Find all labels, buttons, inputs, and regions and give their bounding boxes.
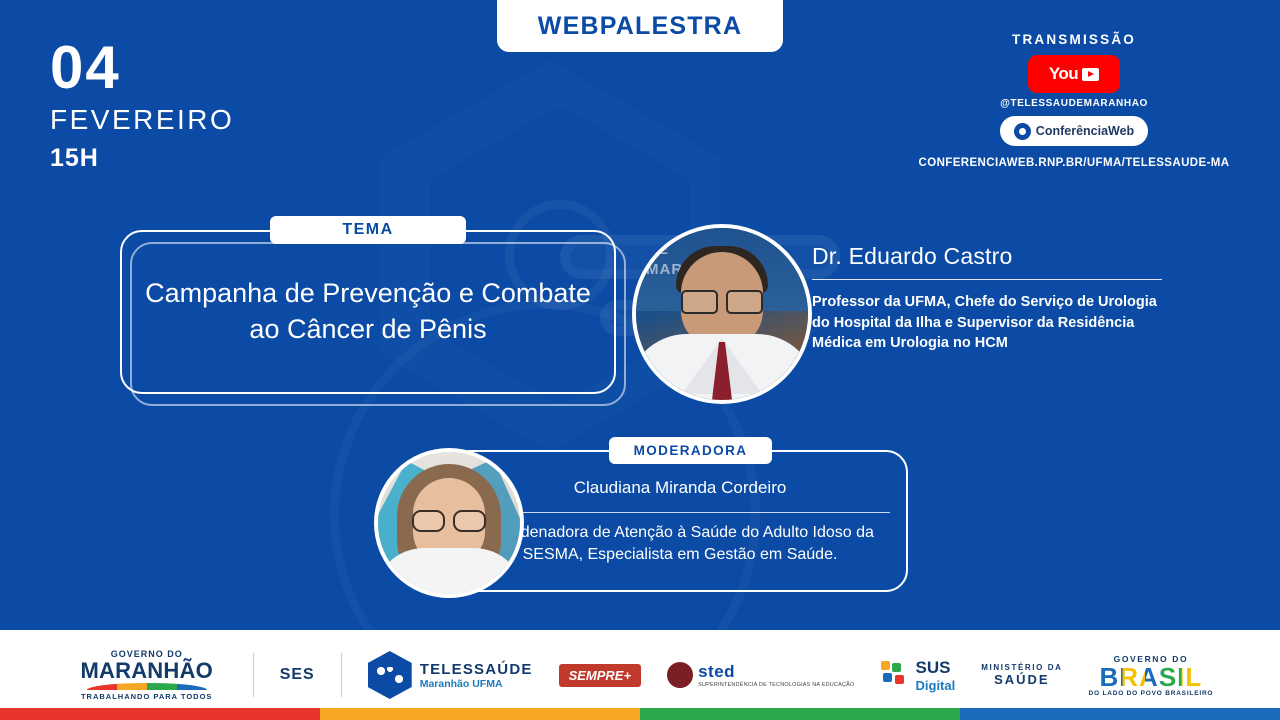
theme-tab: TEMA bbox=[270, 216, 466, 244]
moderator-avatar bbox=[374, 448, 524, 598]
brasil-line2: BRASIL bbox=[1100, 664, 1203, 690]
telessaude-line2: Maranhão UFMA bbox=[420, 678, 533, 690]
logo-sted: sted SUPERINTENDÊNCIA DE TECNOLOGIAS NA … bbox=[698, 662, 854, 688]
sted-line1: sted bbox=[698, 662, 854, 682]
theme-tab-label: TEMA bbox=[342, 221, 393, 239]
sus-line2: Digital bbox=[916, 678, 956, 693]
ufma-seal-icon bbox=[667, 662, 693, 688]
youtube-play-icon bbox=[1082, 68, 1099, 81]
footer-divider-2 bbox=[341, 653, 342, 697]
logo-governo-do-maranhao: GOVERNO DO MARANHÃO TRABALHANDO PARA TOD… bbox=[67, 649, 227, 701]
event-day: 04 bbox=[50, 38, 234, 98]
youtube-handle: @TELESSAUDEMARANHAO bbox=[914, 98, 1234, 109]
speaker-info: Dr. Eduardo Castro Professor da UFMA, Ch… bbox=[812, 243, 1162, 354]
telessaude-hex-icon bbox=[368, 651, 412, 699]
webpalestra-label: WEBPALESTRA bbox=[538, 12, 742, 41]
brasil-line3: DO LADO DO POVO BRASILEIRO bbox=[1088, 690, 1213, 697]
logo-ufma-seal: sted SUPERINTENDÊNCIA DE TECNOLOGIAS NA … bbox=[667, 662, 854, 688]
theme-title: Campanha de Prevenção e Combate ao Cânce… bbox=[122, 276, 614, 347]
logo-sus-digital: SUS Digital bbox=[881, 658, 956, 693]
footer-logo-bar: GOVERNO DO MARANHÃO TRABALHANDO PARA TOD… bbox=[0, 630, 1280, 720]
logo-ministerio-da-saude: MINISTÉRIO DA SAÚDE bbox=[981, 663, 1062, 687]
conferenciaweb-icon bbox=[1014, 123, 1031, 140]
sempre-mais-label: SEMPRE+ bbox=[559, 664, 642, 687]
maranhao-line3: TRABALHANDO PARA TODOS bbox=[81, 692, 212, 701]
moderator-glasses-icon bbox=[412, 510, 486, 528]
telessaude-line1: TELESSAÚDE bbox=[420, 661, 533, 678]
maranhao-line2: MARANHÃO bbox=[81, 659, 213, 682]
event-date-block: 04 FEVEREIRO 15H bbox=[50, 38, 234, 173]
webinar-poster: WEBPALESTRA 04 FEVEREIRO 15H TRANSMISSÃO… bbox=[0, 0, 1280, 720]
moderator-shirt bbox=[374, 548, 524, 598]
footer-color-strip bbox=[0, 708, 1280, 720]
speaker-role: Professor da UFMA, Chefe do Serviço de U… bbox=[812, 292, 1162, 354]
broadcast-label: TRANSMISSÃO bbox=[914, 32, 1234, 47]
ses-label: SES bbox=[280, 666, 315, 684]
theme-box: Campanha de Prevenção e Combate ao Cânce… bbox=[120, 230, 616, 394]
logo-ses: SES bbox=[280, 666, 315, 684]
conferenciaweb-label: ConferênciaWeb bbox=[1036, 124, 1134, 138]
ministerio-line1: MINISTÉRIO DA bbox=[981, 663, 1062, 672]
conferenciaweb-badge[interactable]: ConferênciaWeb bbox=[1000, 116, 1148, 146]
broadcast-block: TRANSMISSÃO You @TELESSAUDEMARANHAO Conf… bbox=[914, 32, 1234, 169]
logo-governo-do-brasil: GOVERNO DO BRASIL DO LADO DO POVO BRASIL… bbox=[1088, 654, 1213, 697]
logo-sempre-mais: SEMPRE+ bbox=[559, 664, 642, 687]
moderator-name: Claudiana Miranda Cordeiro bbox=[470, 478, 890, 513]
speaker-glasses-icon bbox=[679, 290, 765, 310]
logo-telessaude: TELESSAÚDE Maranhão UFMA bbox=[368, 651, 533, 699]
event-hour: 15H bbox=[50, 144, 234, 173]
moderator-tab: MODERADORA bbox=[609, 437, 772, 464]
footer-divider bbox=[253, 653, 254, 697]
ministerio-line2: SAÚDE bbox=[994, 672, 1050, 687]
speaker-name: Dr. Eduardo Castro bbox=[812, 243, 1162, 280]
maranhao-arc-icon bbox=[87, 683, 207, 690]
sus-dots-icon bbox=[881, 661, 909, 689]
moderator-role: Coordenadora de Atenção à Saúde do Adult… bbox=[470, 522, 890, 567]
moderator-tab-label: MODERADORA bbox=[634, 443, 748, 458]
sted-line2: SUPERINTENDÊNCIA DE TECNOLOGIAS NA EDUCA… bbox=[698, 682, 854, 688]
event-month: FEVEREIRO bbox=[50, 104, 234, 136]
youtube-logo-icon[interactable]: You bbox=[1028, 55, 1120, 93]
webpalestra-tab: WEBPALESTRA bbox=[497, 0, 783, 52]
sus-line1: SUS bbox=[916, 658, 956, 678]
broadcast-url[interactable]: CONFERENCIAWEB.RNP.BR/UFMA/TELESSAUDE-MA bbox=[914, 157, 1234, 169]
speaker-avatar: REMARA bbox=[632, 224, 812, 404]
youtube-label: You bbox=[1049, 64, 1078, 84]
